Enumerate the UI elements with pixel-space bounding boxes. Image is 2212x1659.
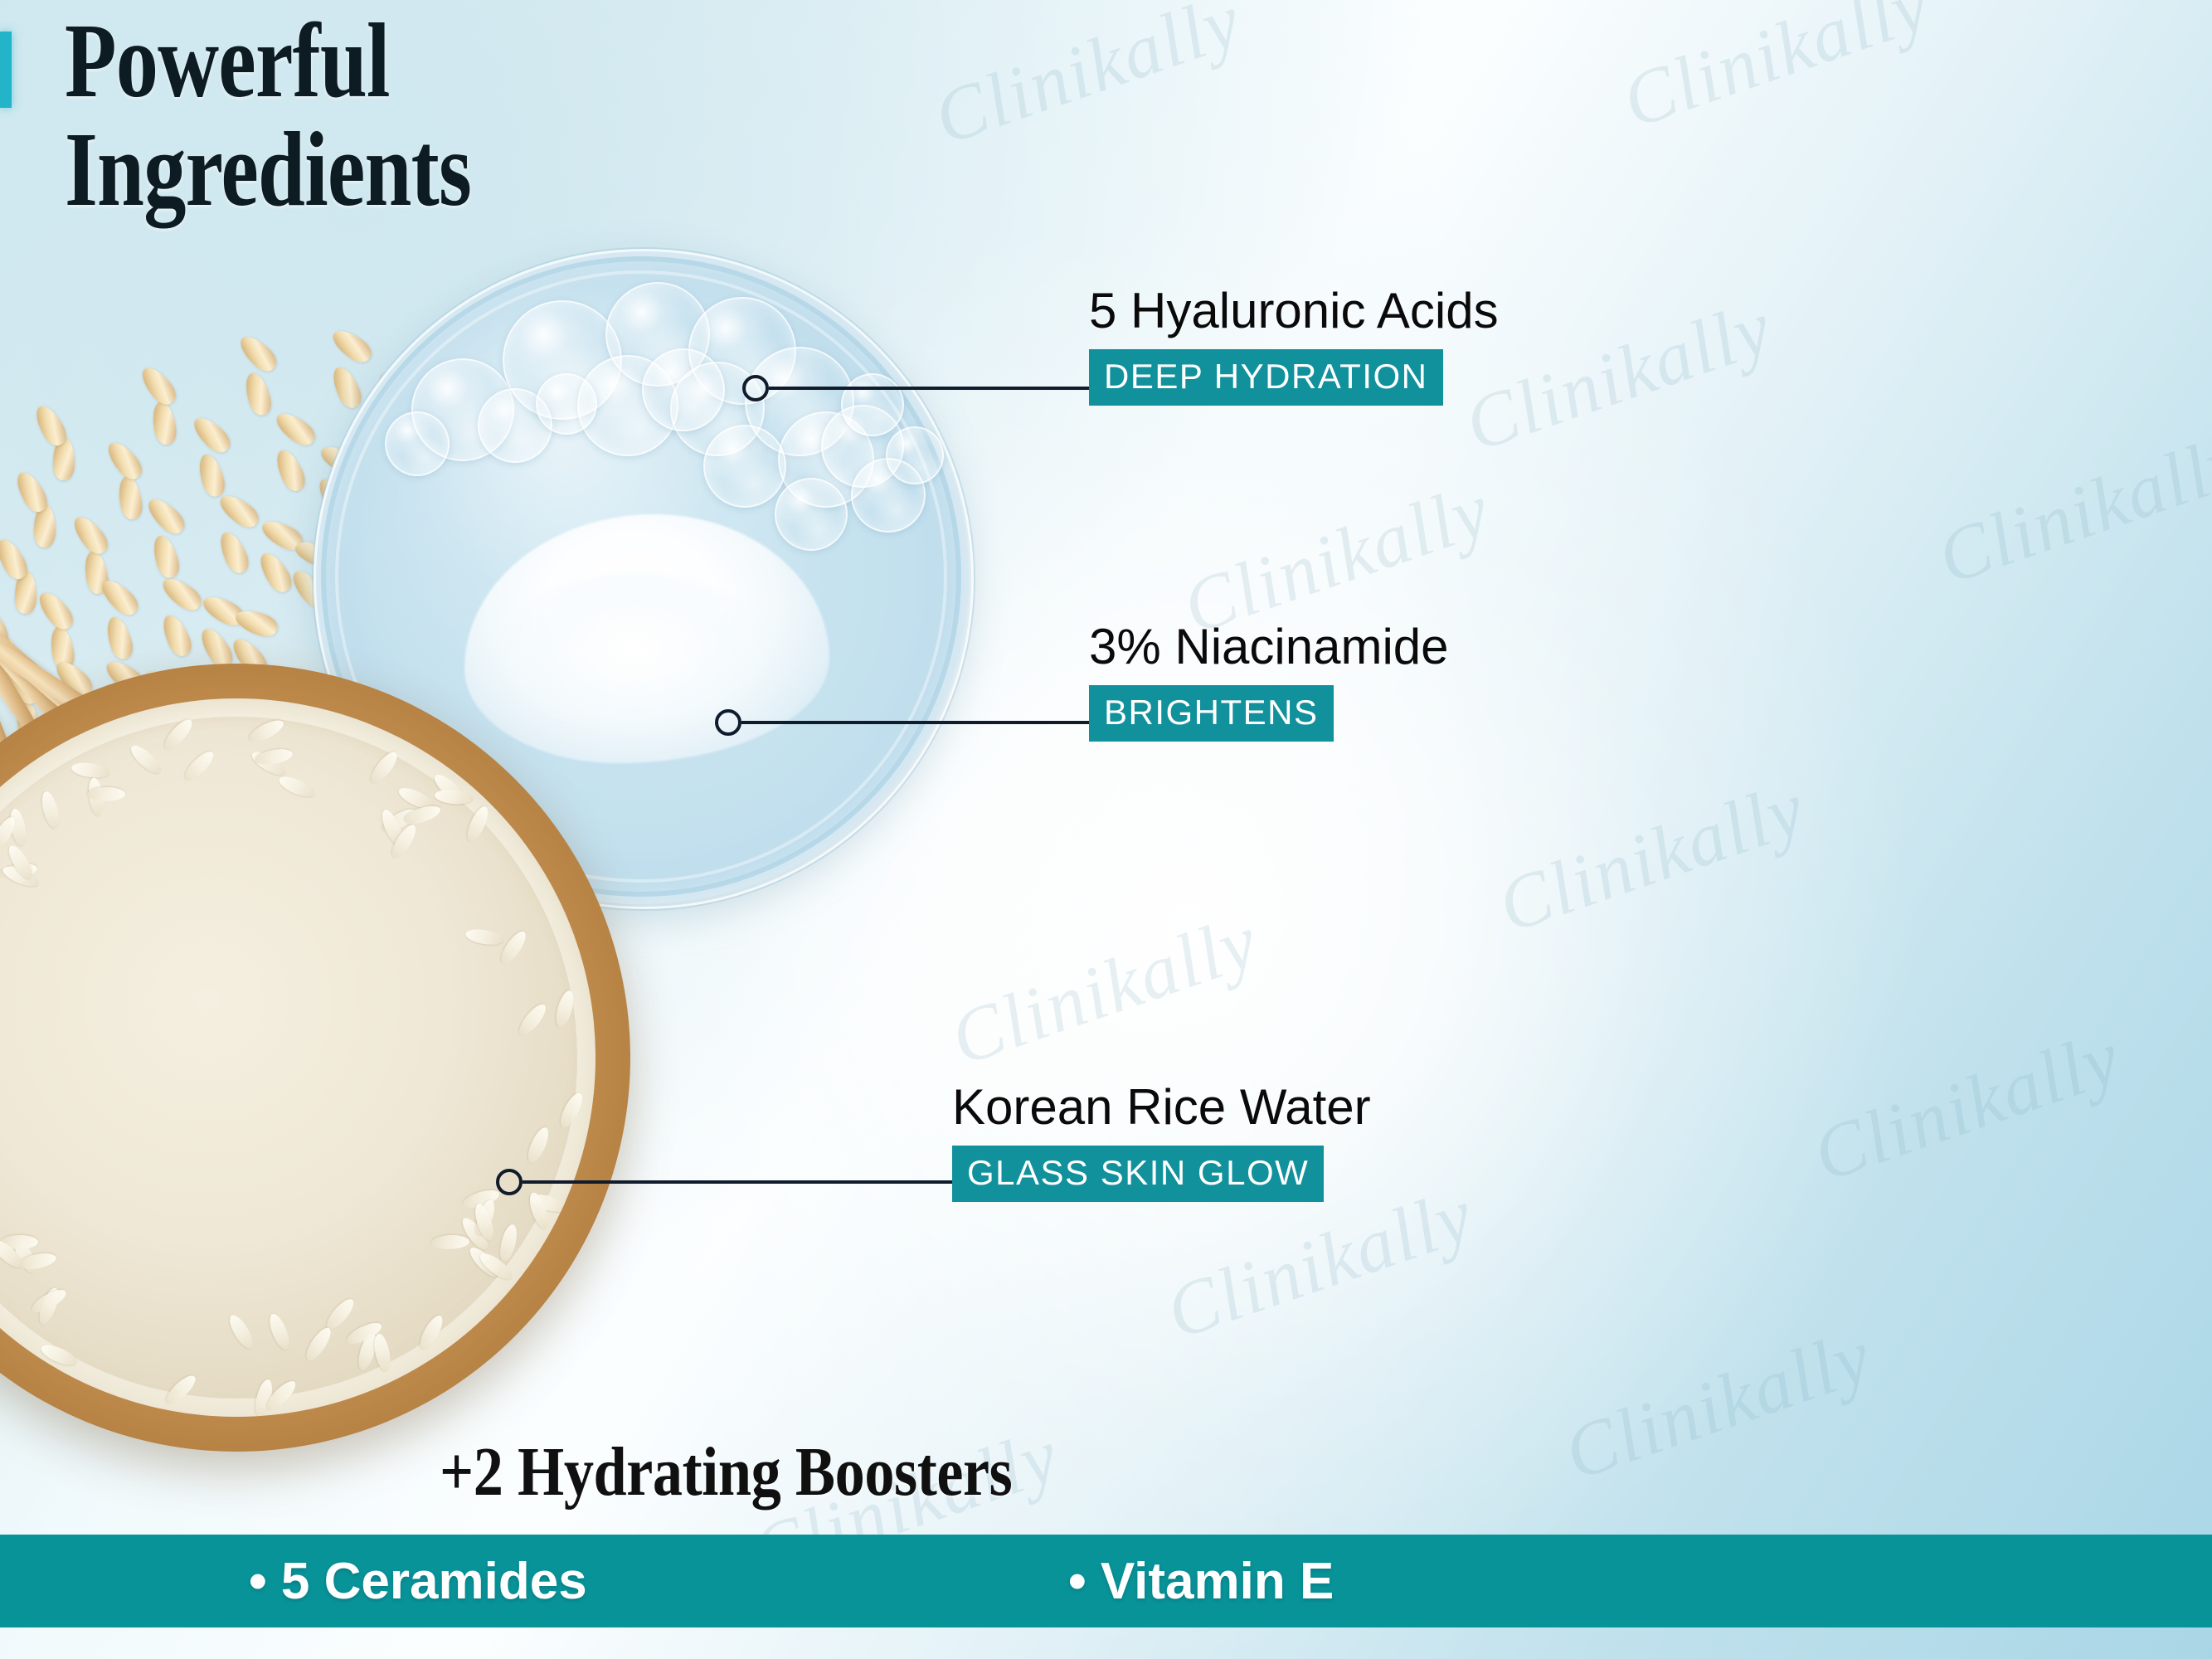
status-badge: GLASS SKIN GLOW	[952, 1146, 1324, 1202]
bubble	[503, 300, 622, 420]
bubble	[478, 388, 552, 463]
callout-title: Korean Rice Water	[952, 1078, 1371, 1136]
callout-leader-rice-water	[523, 1180, 954, 1184]
bubble	[778, 411, 874, 508]
stalk-grain	[255, 549, 296, 597]
bubble	[886, 426, 944, 484]
watermark: Clinikally	[1612, 0, 1940, 145]
bubble	[821, 405, 904, 488]
stalk-grain	[271, 445, 309, 494]
bubble	[851, 458, 926, 533]
bubble	[577, 355, 678, 456]
bubble	[605, 282, 710, 387]
watermark: Clinikally	[940, 897, 1268, 1083]
callout-leader-niacinamide	[741, 721, 1091, 724]
stalk-grain	[34, 586, 78, 634]
bubble	[411, 358, 514, 461]
page-title-line-2: Ingredients	[65, 115, 471, 224]
bubble	[841, 373, 904, 436]
callout-marker-niacinamide[interactable]	[715, 709, 741, 736]
stalk-grain	[150, 400, 179, 446]
footer-item-ceramides: • 5 Ceramides	[249, 1552, 587, 1611]
watermark: Clinikally	[1927, 416, 2212, 602]
stalk-grain	[241, 371, 275, 418]
stalk-grain	[188, 412, 235, 457]
page-title-line-1: Powerful	[65, 7, 471, 115]
footer-item-vitamin-e: • Vitamin E	[1068, 1552, 1334, 1611]
status-badge: BRIGHTENS	[1089, 685, 1334, 742]
stalk-grain	[96, 575, 143, 620]
bubble	[745, 347, 854, 456]
callout-title: 5 Hyaluronic Acids	[1089, 282, 1499, 339]
ingredients-infographic: Clinikally Clinikally Clinikally Clinika…	[0, 0, 2212, 1659]
stalk-grain	[328, 363, 366, 411]
bubble	[703, 425, 786, 508]
bubble	[775, 478, 848, 551]
watermark: Clinikally	[1553, 1311, 1882, 1498]
stalk-grain	[116, 474, 145, 521]
watermark: Clinikally	[1487, 764, 1816, 951]
stalk-grain	[215, 490, 263, 533]
callout-hyaluronic: 5 Hyaluronic Acids DEEP HYDRATION	[1089, 282, 1499, 406]
watermark: Clinikally	[1802, 1013, 2131, 1199]
callout-niacinamide: 3% Niacinamide BRIGHTENS	[1089, 618, 1449, 742]
bubble	[642, 348, 725, 431]
stalk-grain	[158, 611, 197, 659]
callout-rice-water: Korean Rice Water GLASS SKIN GLOW	[952, 1078, 1371, 1202]
page-title: Powerful Ingredients	[65, 7, 471, 223]
callout-marker-hyaluronic[interactable]	[742, 375, 769, 401]
stalk-grain	[143, 494, 189, 538]
bubble	[385, 411, 450, 476]
stalk-grain	[271, 407, 319, 450]
stalk-grain	[235, 331, 281, 376]
watermark: Clinikally	[1454, 283, 1782, 469]
stalk-grain	[195, 452, 228, 499]
stalk-grain	[158, 573, 207, 615]
callout-leader-hyaluronic	[769, 387, 1091, 390]
footer-bar: • 5 Ceramides • Vitamin E	[0, 1535, 2212, 1627]
stalk-grain	[328, 324, 376, 367]
callout-title: 3% Niacinamide	[1089, 618, 1449, 675]
watermark: Clinikally	[923, 0, 1252, 162]
callout-marker-rice-water[interactable]	[496, 1169, 523, 1195]
stalk-grain	[215, 528, 253, 577]
stalk-grain	[103, 614, 136, 661]
stalk-grain	[136, 362, 180, 410]
stalk-grain	[149, 533, 182, 581]
bubble	[536, 373, 597, 435]
boosters-heading: +2 Hydrating Boosters	[440, 1432, 1012, 1512]
accent-bar	[0, 32, 12, 108]
status-badge: DEEP HYDRATION	[1089, 349, 1443, 406]
